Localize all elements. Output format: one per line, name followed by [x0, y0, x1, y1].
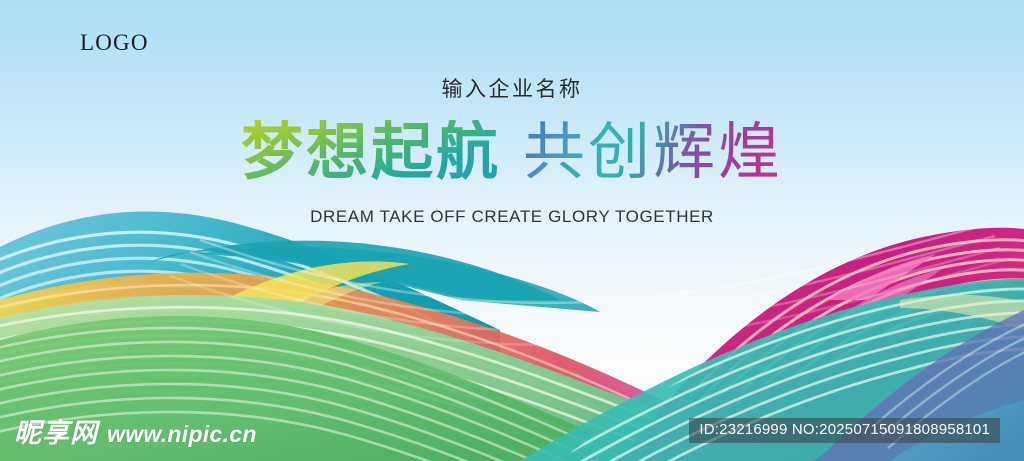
- watermark-site-name: 昵享网: [14, 420, 98, 447]
- headline-part-one: 梦想起航: [241, 120, 501, 185]
- headline-subtitle: DREAM TAKE OFF CREATE GLORY TOGETHER: [0, 208, 1024, 225]
- headline-part-two: 共创辉煌: [523, 120, 783, 185]
- company-name-placeholder: 输入企业名称: [0, 79, 1024, 100]
- headline: 梦想起航共创辉煌: [0, 120, 1024, 185]
- logo-text: LOGO: [80, 31, 149, 54]
- poster-canvas: LOGO 输入企业名称 梦想起航共创辉煌 DREAM TAKE OFF CREA…: [0, 0, 1024, 461]
- wave-background-graphic: [0, 0, 1024, 461]
- watermark: 昵享网 www.nipic.cn: [14, 420, 257, 447]
- image-id-badge: ID:23216999 NO:20250715091808958101: [689, 418, 1000, 444]
- watermark-site-url: www.nipic.cn: [107, 423, 257, 446]
